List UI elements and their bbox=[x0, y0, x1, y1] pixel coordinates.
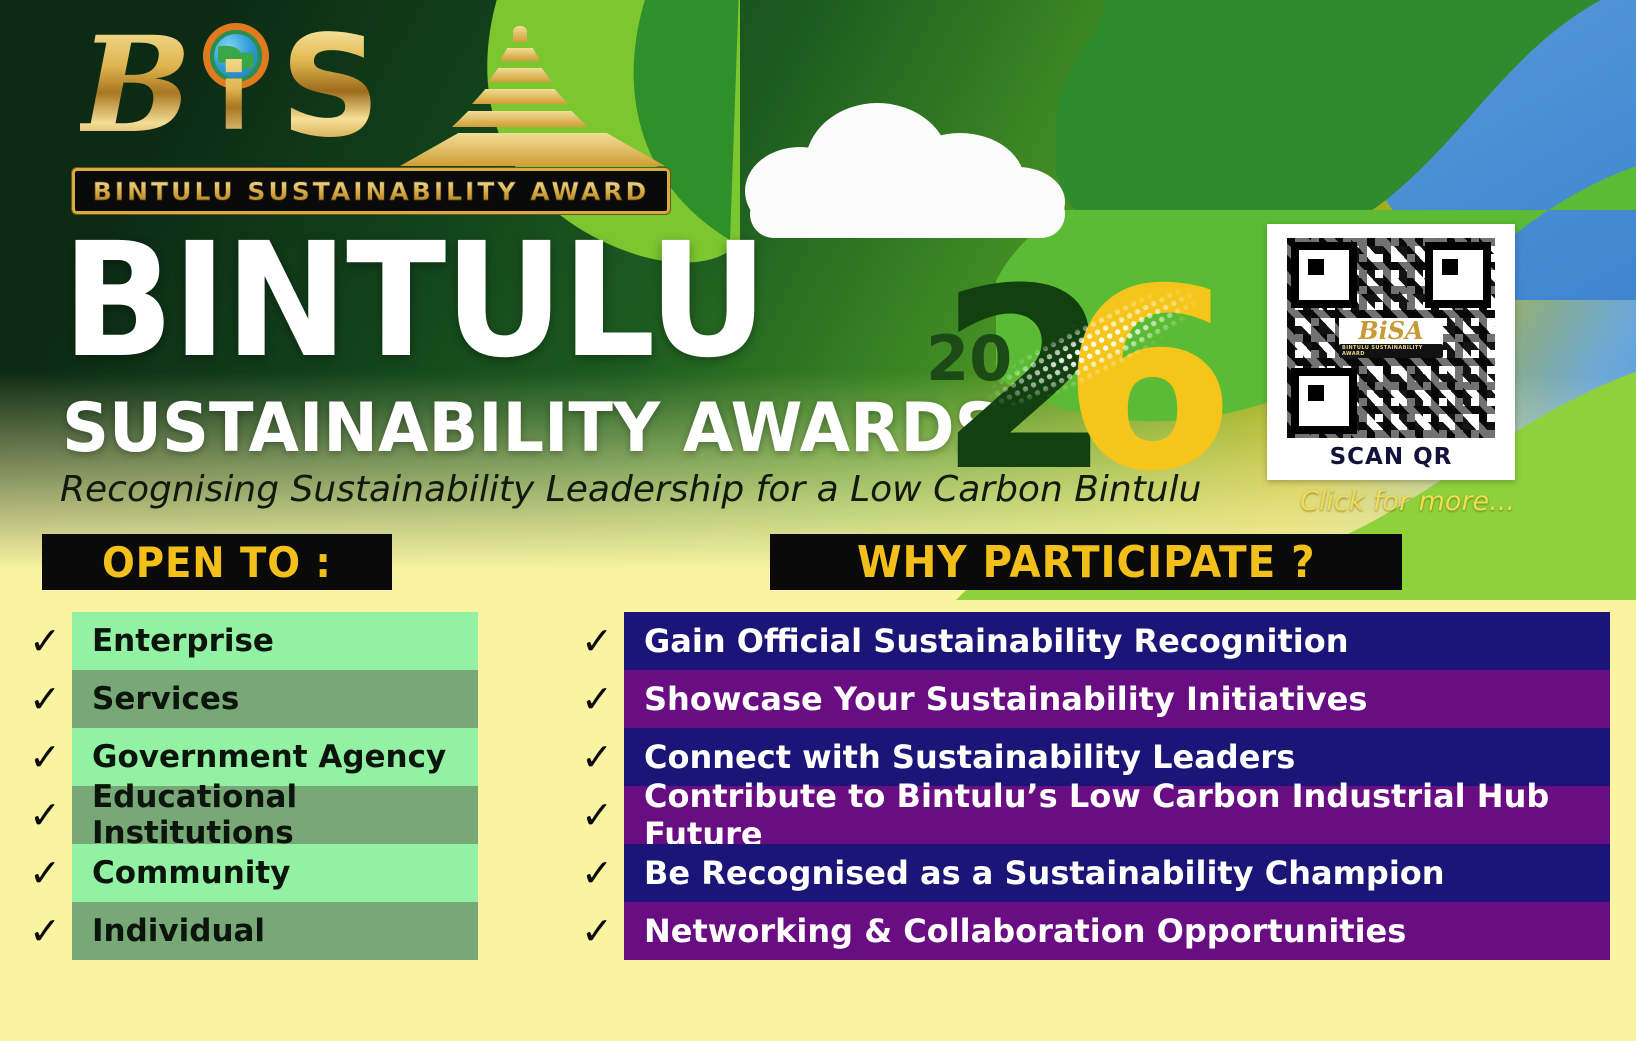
list-item: ✓ Community bbox=[18, 844, 478, 902]
check-icon: ✓ bbox=[570, 728, 624, 786]
logo-banner: BINTULU SUSTAINABILITY AWARD bbox=[72, 168, 670, 214]
check-icon: ✓ bbox=[570, 902, 624, 960]
why-participate-item-label: Be Recognised as a Sustainability Champi… bbox=[624, 844, 1610, 902]
why-participate-banner: WHY PARTICIPATE ? bbox=[770, 534, 1402, 590]
list-item: ✓ Enterprise bbox=[18, 612, 478, 670]
check-icon: ✓ bbox=[18, 844, 72, 902]
qr-code[interactable]: BiSA BINTULU SUSTAINABILITY AWARD bbox=[1287, 238, 1495, 438]
cloud-icon bbox=[745, 85, 1075, 235]
open-to-item-label: Government Agency bbox=[72, 728, 478, 786]
qr-finder-top-left bbox=[1291, 242, 1357, 308]
qr-card[interactable]: BiSA BINTULU SUSTAINABILITY AWARD SCAN Q… bbox=[1267, 224, 1515, 480]
open-to-banner-text: OPEN TO : bbox=[102, 538, 332, 587]
check-icon: ✓ bbox=[570, 612, 624, 670]
logo-letter-s: S bbox=[280, 18, 381, 158]
check-icon: ✓ bbox=[570, 786, 624, 844]
why-participate-item-label: Networking & Collaboration Opportunities bbox=[624, 902, 1610, 960]
page-subtitle: SUSTAINABILITY AWARDS bbox=[62, 395, 1002, 463]
open-to-item-label: Community bbox=[72, 844, 478, 902]
logo-banner-text: BINTULU SUSTAINABILITY AWARD bbox=[93, 177, 650, 206]
open-to-item-label: Enterprise bbox=[72, 612, 478, 670]
open-to-item-label: Services bbox=[72, 670, 478, 728]
qr-caption: SCAN QR bbox=[1330, 444, 1453, 470]
open-to-item-label: Individual bbox=[72, 902, 478, 960]
qr-logo-subtext: BINTULU SUSTAINABILITY AWARD bbox=[1339, 344, 1443, 358]
check-icon: ✓ bbox=[570, 670, 624, 728]
qr-finder-bottom-left bbox=[1291, 368, 1357, 434]
check-icon: ✓ bbox=[18, 786, 72, 844]
list-item: ✓ Networking & Collaboration Opportuniti… bbox=[570, 902, 1610, 960]
open-to-banner: OPEN TO : bbox=[42, 534, 392, 590]
bisa-logo: B i S BINTULU SUSTAINABILITY AWARD bbox=[70, 18, 670, 213]
why-participate-banner-text: WHY PARTICIPATE ? bbox=[857, 537, 1316, 588]
qr-embedded-logo: BiSA BINTULU SUSTAINABILITY AWARD bbox=[1339, 318, 1443, 358]
why-participate-item-label: Contribute to Bintulu’s Low Carbon Indus… bbox=[624, 786, 1610, 844]
open-to-item-label: Educational Institutions bbox=[72, 786, 478, 844]
check-icon: ✓ bbox=[18, 902, 72, 960]
list-item: ✓ Services bbox=[18, 670, 478, 728]
list-item: ✓ Gain Official Sustainability Recogniti… bbox=[570, 612, 1610, 670]
year-graphic: 2 6 20 bbox=[912, 232, 1222, 502]
list-item: ✓ Showcase Your Sustainability Initiativ… bbox=[570, 670, 1610, 728]
why-participate-item-label: Showcase Your Sustainability Initiatives bbox=[624, 670, 1610, 728]
logo-letter-i: i bbox=[218, 52, 250, 144]
tower-icon bbox=[400, 26, 670, 166]
qr-finder-top-right bbox=[1425, 242, 1491, 308]
why-participate-list: ✓ Gain Official Sustainability Recogniti… bbox=[570, 612, 1610, 960]
check-icon: ✓ bbox=[18, 670, 72, 728]
check-icon: ✓ bbox=[18, 728, 72, 786]
poster: B i S BINTULU SUSTAINABILITY AWARD BINTU… bbox=[0, 0, 1636, 1041]
list-item: ✓ Be Recognised as a Sustainability Cham… bbox=[570, 844, 1610, 902]
qr-click-link[interactable]: Click for more... bbox=[1300, 486, 1515, 517]
qr-logo-text: BiSA bbox=[1358, 319, 1423, 343]
page-title: BINTULU bbox=[62, 222, 766, 380]
list-item: ✓ Government Agency bbox=[18, 728, 478, 786]
logo-mark: B i S bbox=[70, 18, 670, 168]
list-item: ✓ Individual bbox=[18, 902, 478, 960]
check-icon: ✓ bbox=[18, 612, 72, 670]
why-participate-item-label: Gain Official Sustainability Recognition bbox=[624, 612, 1610, 670]
check-icon: ✓ bbox=[570, 844, 624, 902]
list-item: ✓ Contribute to Bintulu’s Low Carbon Ind… bbox=[570, 786, 1610, 844]
logo-letter-b: B bbox=[80, 20, 192, 152]
open-to-list: ✓ Enterprise ✓ Services ✓ Government Age… bbox=[18, 612, 478, 960]
list-item: ✓ Educational Institutions bbox=[18, 786, 478, 844]
